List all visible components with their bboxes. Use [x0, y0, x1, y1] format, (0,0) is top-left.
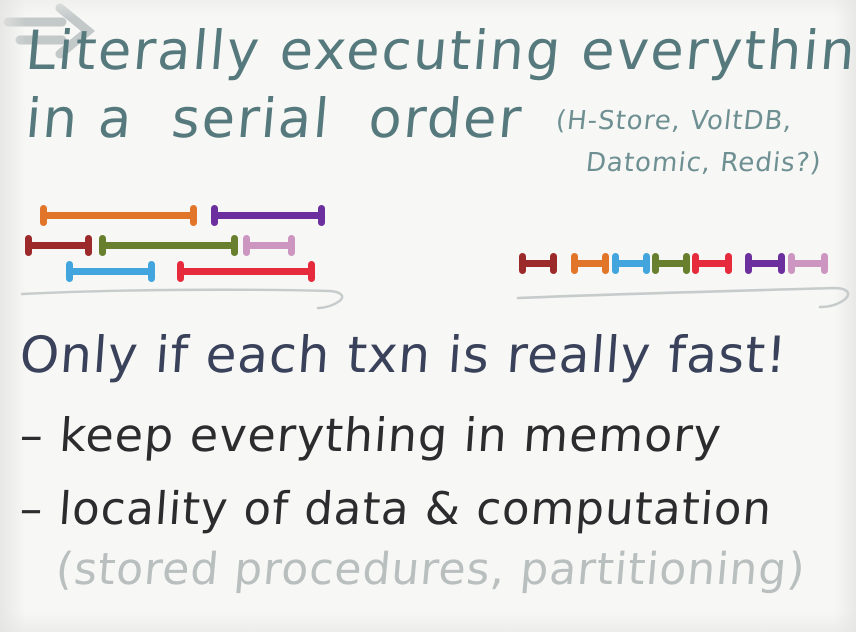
timeline-axis-left [0, 278, 360, 318]
bar-shaft [99, 242, 238, 249]
page-title-line-2: in a serial order [24, 92, 526, 146]
bar-end-cap [821, 253, 828, 274]
systems-note-line-2: Datomic, Redis?) [585, 150, 823, 176]
footnote-stored-procedures: (stored procedures, partitioning) [54, 548, 807, 592]
bar-end-cap [725, 253, 732, 274]
systems-note-line-1: (H-Store, VoltDB, [555, 108, 794, 134]
diagram-serial-order [500, 190, 856, 310]
bar-shaft [25, 242, 92, 249]
bar-shaft [66, 268, 155, 275]
bar-end-cap [683, 253, 690, 274]
timeline-axis-right [500, 278, 856, 318]
bar-end-cap [288, 235, 295, 256]
bar-end-cap [231, 235, 238, 256]
diagram-concurrent-transactions [0, 190, 360, 310]
bar-shaft [211, 212, 325, 219]
bar-end-cap [643, 253, 650, 274]
bar-end-cap [550, 253, 557, 274]
statement-main: Only if each txn is really fast! [18, 330, 788, 380]
page-title-line-1: Literally executing everything [24, 24, 856, 78]
bar-shaft [177, 268, 315, 275]
bar-end-cap [778, 253, 785, 274]
bar-end-cap [602, 253, 609, 274]
bar-end-cap [318, 205, 325, 226]
bullet-locality: – locality of data & computation [18, 486, 773, 531]
bar-end-cap [85, 235, 92, 256]
slide-canvas: Literally executing everything in a seri… [0, 0, 856, 632]
bar-end-cap [190, 205, 197, 226]
bullet-keep-in-memory: – keep everything in memory [18, 412, 723, 458]
bar-shaft [40, 212, 197, 219]
